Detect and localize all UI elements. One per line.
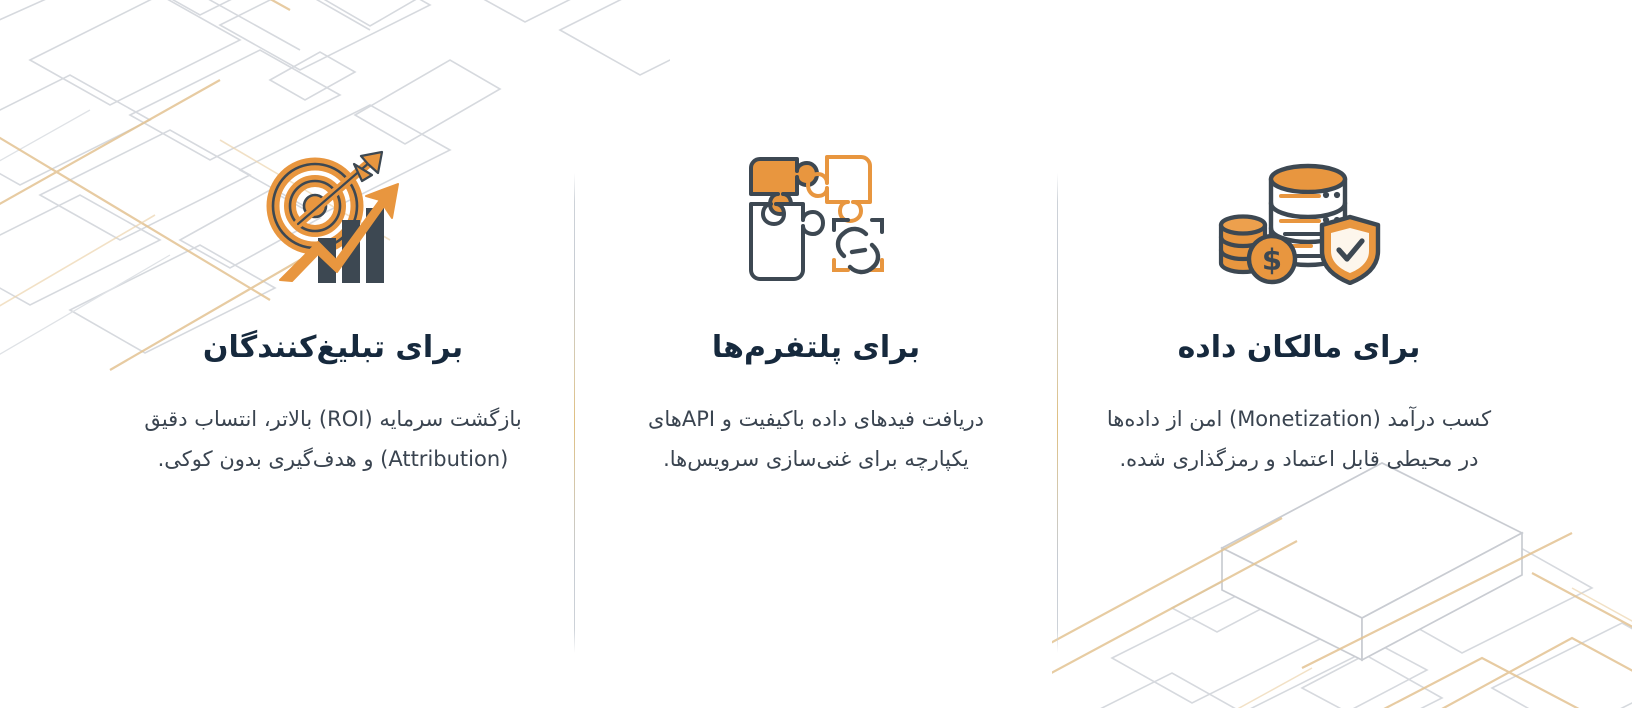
feature-card-advertisers: برای تبلیغ‌کنندگان بازگشت سرمایه (ROI) ب… xyxy=(92,0,574,480)
database-coins-shield-icon: $ xyxy=(1215,150,1383,290)
features-section: $ برای مالکان داده کسب درآمد (Monetizati… xyxy=(0,0,1632,708)
feature-description: کسب درآمد (Monetization) امن از داده‌ها … xyxy=(1099,399,1499,481)
target-growth-chart-icon xyxy=(258,150,408,290)
puzzle-link-icon xyxy=(741,150,891,290)
feature-card-data-owners: $ برای مالکان داده کسب درآمد (Monetizati… xyxy=(1058,0,1540,480)
feature-description: بازگشت سرمایه (ROI) بالاتر، انتساب دقیق … xyxy=(133,399,533,481)
feature-title: برای مالکان داده xyxy=(1178,328,1421,369)
feature-card-platforms: برای پلتفرم‌ها دریافت فیدهای داده باکیفی… xyxy=(575,0,1057,480)
feature-description: دریافت فیدهای داده باکیفیت و API‌های یکپ… xyxy=(616,399,1016,481)
feature-title: برای پلتفرم‌ها xyxy=(712,328,920,369)
svg-text:$: $ xyxy=(1262,243,1282,277)
feature-title: برای تبلیغ‌کنندگان xyxy=(203,328,463,369)
